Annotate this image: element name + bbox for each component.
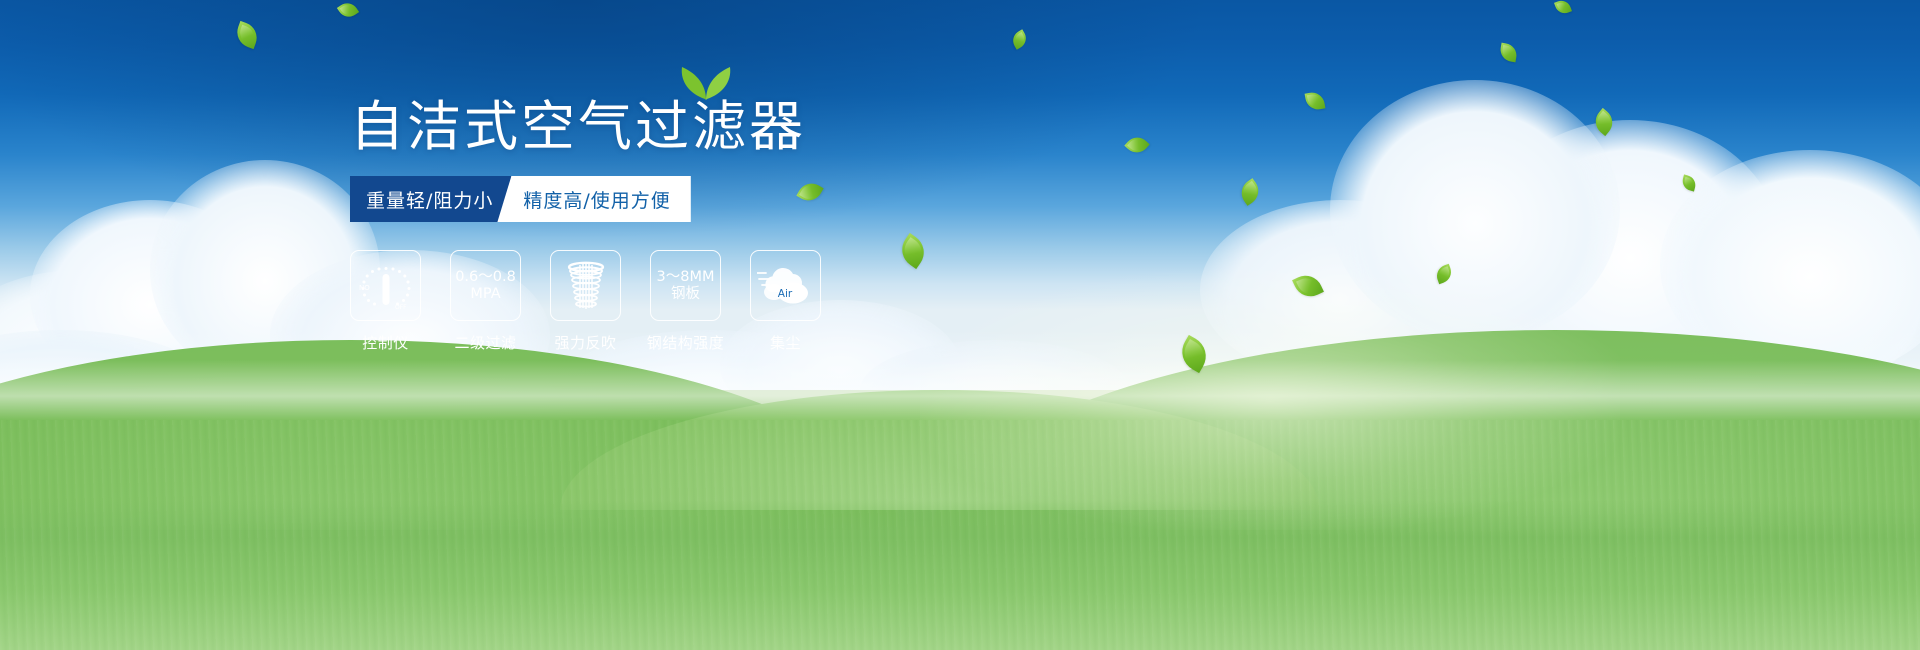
coil-blowback-icon	[561, 260, 611, 312]
feature-label: 钢结构强度	[647, 332, 725, 353]
feature-icon-box: 0.6～0.8 MPA	[450, 250, 521, 321]
steel-thickness-line2: 钢板	[671, 286, 700, 302]
steel-thickness-line1: 3～8MM	[657, 269, 715, 285]
leaf-sprout-icon	[676, 62, 736, 100]
feature-icon-box: 3～8MM 钢板	[650, 250, 721, 321]
feature-item-blowback[interactable]: 强力反吹	[550, 250, 621, 353]
tab-feature-2[interactable]: 精度高/使用方便	[497, 176, 690, 222]
hero-banner: 自洁式空气过滤器 重量轻/阻力小 精度高/使用方便	[0, 0, 1920, 650]
feature-item-dust-collection[interactable]: Air 集尘	[750, 250, 821, 353]
pressure-value-line1: 0.6～0.8	[455, 269, 516, 285]
feature-label: 强力反吹	[554, 332, 616, 353]
svg-text:NO: NO	[359, 284, 370, 292]
page-title: 自洁式空气过滤器	[350, 100, 806, 154]
banner-content: 自洁式空气过滤器 重量轻/阻力小 精度高/使用方便	[350, 100, 1070, 353]
feature-icon-box: Air	[750, 250, 821, 321]
feature-icon-row: NO OFF 控制仪 0.6～0.8 MPA 二级过滤	[350, 250, 1070, 353]
gauge-dial-icon: NO OFF	[355, 257, 417, 315]
air-label: Air	[777, 288, 792, 300]
tab-group: 重量轻/阻力小 精度高/使用方便	[350, 176, 678, 222]
svg-text:OFF: OFF	[395, 304, 407, 311]
feature-item-steel[interactable]: 3～8MM 钢板 钢结构强度	[650, 250, 721, 353]
feature-icon-box: NO OFF	[350, 250, 421, 321]
tab-feature-1[interactable]: 重量轻/阻力小	[350, 176, 511, 222]
title-wrapper: 自洁式空气过滤器	[350, 100, 806, 154]
feature-item-filtration[interactable]: 0.6～0.8 MPA 二级过滤	[450, 250, 521, 353]
feature-label: 二级过滤	[454, 332, 516, 353]
cloud-air-icon: Air	[757, 262, 815, 310]
feature-label: 控制仪	[362, 332, 409, 353]
feature-item-controller[interactable]: NO OFF 控制仪	[350, 250, 421, 353]
feature-icon-box	[550, 250, 621, 321]
feature-label: 集尘	[770, 332, 801, 353]
pressure-value-line2: MPA	[470, 286, 500, 302]
